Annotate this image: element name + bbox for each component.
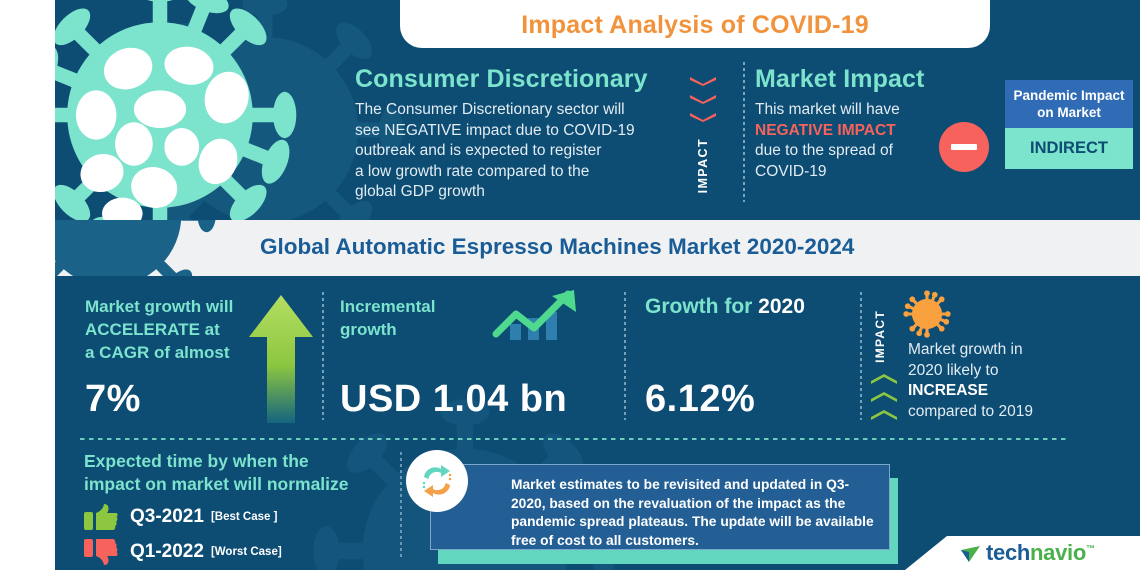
chevron-down-icon	[690, 113, 716, 122]
cd-line-3: outbreak and is expected to register	[355, 142, 601, 159]
impact-label: IMPACT	[696, 138, 710, 193]
refresh-icon	[416, 460, 458, 502]
inc-label-2: growth	[340, 320, 397, 339]
normalize-quarter-worst: Q1-2022	[130, 541, 204, 563]
stats-divider-1	[322, 292, 324, 420]
report-title: Global Automatic Espresso Machines Marke…	[260, 234, 854, 260]
technavio-logo: technavio™	[960, 540, 1095, 566]
impact-up-chevrons	[871, 374, 901, 428]
growth-chart-icon	[490, 288, 580, 344]
header-divider	[743, 62, 745, 202]
market-impact-block: Market Impact This market will have NEGA…	[755, 65, 970, 182]
cd-line-1: The Consumer Discretionary sector will	[355, 101, 625, 118]
virus-band-icon	[55, 220, 225, 276]
impact-right-text: Market growth in 2020 likely to INCREASE…	[908, 340, 1073, 422]
mi-line-3: COVID-19	[755, 163, 827, 180]
thumbs-up-icon	[84, 503, 118, 531]
chevron-up-icon	[871, 410, 897, 420]
minus-circle-icon	[939, 122, 989, 172]
horizontal-divider	[80, 438, 1070, 440]
pandemic-badge-value: INDIRECT	[1005, 128, 1133, 169]
stats-divider-3	[860, 292, 862, 420]
header-panel: Impact Analysis of COVID-19 Consumer Dis…	[55, 0, 1140, 220]
chevron-down-icon	[690, 77, 716, 86]
chevron-up-icon	[871, 392, 897, 402]
normalize-row-best: Q3-2021 [Best Case ]	[84, 503, 404, 531]
technavio-wordmark: technavio™	[986, 540, 1095, 566]
inc-label-1: Incremental	[340, 297, 435, 316]
arrow-up-icon	[247, 293, 315, 423]
cd-line-2: see NEGATIVE impact due to COVID-19	[355, 122, 635, 139]
pandemic-badge-title-line-2: on Market	[1037, 105, 1101, 120]
cagr-label-3: a CAGR of almost	[85, 343, 230, 362]
logo-part-1: tech	[986, 540, 1030, 565]
impact-right-label: IMPACT	[873, 310, 887, 363]
note-box: Market estimates to be revisited and upd…	[430, 464, 890, 550]
cagr-label-2: ACCELERATE at	[85, 320, 220, 339]
market-impact-body: This market will have NEGATIVE IMPACT du…	[755, 100, 970, 182]
stat-growth-value: 6.12%	[645, 378, 755, 421]
normalize-quarter-best: Q3-2021	[130, 506, 204, 528]
logo-part-2: navio	[1030, 540, 1086, 565]
stat-cagr: Market growth will ACCELERATE at a CAGR …	[85, 295, 255, 364]
mi-line-2: due to the spread of	[755, 142, 893, 159]
report-title-band: Global Automatic Espresso Machines Marke…	[55, 220, 1140, 276]
chevron-down-icon	[690, 95, 716, 104]
header-impact-indicator: IMPACT	[685, 76, 721, 198]
refresh-badge	[406, 450, 468, 512]
mi-line-1: This market will have	[755, 101, 900, 118]
pandemic-impact-badge: Pandemic Impact on Market INDIRECT	[1005, 80, 1133, 169]
thumbs-down-icon	[84, 538, 118, 566]
market-impact-heading: Market Impact	[755, 65, 970, 94]
technavio-mark-icon	[960, 543, 981, 564]
normalize-heading: Expected time by when the impact on mark…	[84, 450, 404, 496]
normalize-heading-2: impact on market will normalize	[84, 474, 349, 494]
stat-incremental-value: USD 1.04 bn	[340, 378, 567, 421]
stats-divider-2	[624, 292, 626, 420]
consumer-discretionary-body: The Consumer Discretionary sector will s…	[355, 100, 675, 203]
stat-cagr-value: 7%	[85, 378, 141, 421]
ir-line-3: compared to 2019	[908, 403, 1033, 420]
ir-line-2: 2020 likely to	[908, 362, 998, 379]
normalize-case-worst: [Worst Case]	[211, 546, 282, 558]
normalize-heading-1: Expected time by when the	[84, 451, 309, 471]
growth-label-1: Growth for	[645, 295, 758, 318]
virus-icon	[55, 0, 305, 220]
cagr-label-1: Market growth will	[85, 297, 233, 316]
chevron-up-icon	[871, 374, 897, 384]
pandemic-badge-title: Pandemic Impact on Market	[1005, 80, 1133, 128]
stat-growth-2020: Growth for 2020 6.12%	[645, 295, 875, 318]
cd-line-4: a low growth rate compared to the	[355, 163, 589, 180]
consumer-discretionary-block: Consumer Discretionary The Consumer Disc…	[355, 65, 675, 203]
normalize-row-worst: Q1-2022 [Worst Case]	[84, 538, 404, 566]
minus-bar	[951, 144, 977, 150]
mi-highlight: NEGATIVE IMPACT	[755, 122, 896, 139]
cd-line-5: global GDP growth	[355, 183, 485, 200]
infographic-canvas: Impact Analysis of COVID-19 Consumer Dis…	[0, 0, 1140, 570]
consumer-discretionary-heading: Consumer Discretionary	[355, 65, 675, 94]
page-title: Impact Analysis of COVID-19	[521, 11, 869, 40]
growth-label-year: 2020	[758, 295, 805, 318]
normalize-block: Expected time by when the impact on mark…	[84, 450, 404, 566]
note-text: Market estimates to be revisited and upd…	[511, 476, 879, 550]
pandemic-badge-title-line-1: Pandemic Impact	[1013, 88, 1124, 103]
normalize-case-best: [Best Case ]	[211, 511, 277, 523]
stat-growth-label: Growth for 2020	[645, 295, 875, 318]
stat-cagr-label: Market growth will ACCELERATE at a CAGR …	[85, 295, 255, 364]
bottom-divider	[400, 452, 402, 557]
ir-highlight: INCREASE	[908, 382, 988, 399]
ir-line-1: Market growth in	[908, 341, 1023, 358]
logo-trademark: ™	[1086, 544, 1095, 554]
title-card: Impact Analysis of COVID-19	[400, 0, 990, 48]
virus-orange-icon	[901, 288, 953, 340]
